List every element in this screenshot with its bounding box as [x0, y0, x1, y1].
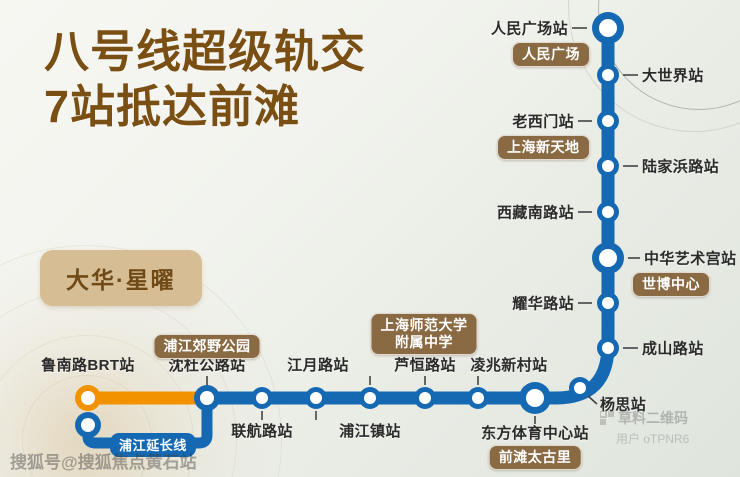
station-dot-pujiangzhen-inner — [310, 392, 322, 404]
watermark-qr-text: 草料二维码 — [618, 408, 688, 428]
station-dot-yangsi-inner — [574, 382, 586, 394]
station-label-laoximen[interactable]: 老西门站 — [512, 111, 574, 132]
station-dot-lianhanglu-inner — [256, 392, 268, 404]
station-label-lianhanglu[interactable]: 联航路站 — [231, 420, 293, 441]
station-label-luhenglu[interactable]: 芦恒路站 — [394, 354, 456, 375]
station-label-yaohualu[interactable]: 耀华路站 — [512, 293, 574, 314]
poi-badge-xintiandi-text: 上海新天地 — [507, 139, 580, 156]
station-dot-chengshanlu-inner — [602, 342, 614, 354]
station-dot-luhenglu-inner — [419, 392, 431, 404]
station-label-pujiangzhen[interactable]: 浦江镇站 — [339, 420, 401, 441]
station-label-lingzhaoxincun[interactable]: 凌兆新村站 — [470, 354, 547, 375]
poi-badge-shibo-zhongxin-text: 世博中心 — [642, 276, 700, 293]
headline-line-2: 7站抵达前滩 — [44, 83, 366, 131]
poi-badge-xintiandi[interactable]: 上海新天地 — [497, 135, 590, 160]
watermark-user-text: 用户 oTPNR6 — [616, 430, 689, 447]
poi-badge-renmin-guangchang-text: 人民广场 — [522, 46, 580, 63]
poi-badge-renmin-guangchang[interactable]: 人民广场 — [512, 42, 590, 67]
station-label-lunanlu-brt[interactable]: 鲁南路BRT站 — [41, 354, 135, 375]
metro-line-poster: 八号线超级轨交 7站抵达前滩 大华·星曜 — [0, 0, 740, 477]
station-dot-yaohualu-inner — [602, 297, 614, 309]
station-label-dongfangtiyuzhongxin[interactable]: 东方体育中心站 — [481, 422, 589, 443]
watermark-qr-block: 草料二维码 — [600, 408, 688, 428]
qr-code-icon — [600, 411, 614, 425]
poi-badge-shishida-line2: 附属中学 — [381, 334, 468, 351]
station-dot-lingzhaoxincun-inner — [472, 392, 484, 404]
poi-badge-pujiang-jiaoye[interactable]: 浦江郊野公园 — [154, 334, 261, 359]
station-dot-pujiang-extension-terminus-inner — [81, 418, 95, 432]
poi-badge-pujiang-jiaoye-text: 浦江郊野公园 — [164, 338, 251, 355]
station-label-chengshanlu[interactable]: 成山路站 — [642, 338, 704, 359]
project-name-label: 大华·星曜 — [66, 267, 176, 293]
station-dot-zhonghuayishugong-inner — [599, 249, 617, 267]
station-dot-shendugonglu-inner — [200, 391, 214, 405]
poi-badge-qiantan-taikooli[interactable]: 前滩太古里 — [489, 445, 582, 470]
station-label-xizangnanlu[interactable]: 西藏南路站 — [497, 202, 574, 223]
headline-line-1: 八号线超级轨交 — [44, 28, 366, 76]
station-dot-jiangyuelu-inner — [364, 392, 376, 404]
station-label-jiangyuelu[interactable]: 江月路站 — [287, 354, 349, 375]
station-dot-lujiabang-inner — [602, 160, 614, 172]
station-label-dashijie[interactable]: 大世界站 — [642, 65, 704, 86]
poi-badge-shishida-fuzhong[interactable]: 上海师范大学 附属中学 — [371, 313, 478, 355]
station-dot-renmin-guangchang-inner — [599, 19, 617, 37]
watermark-sohu: 搜狐号@搜狐焦点黄石站 — [10, 448, 197, 473]
station-label-zhonghuayishugong[interactable]: 中华艺术宫站 — [644, 248, 736, 269]
tick-yangsi — [588, 396, 597, 404]
headline-block: 八号线超级轨交 7站抵达前滩 — [44, 28, 366, 130]
station-dot-laoximen-inner — [602, 115, 614, 127]
poi-badge-shibo-zhongxin[interactable]: 世博中心 — [632, 272, 710, 297]
poi-badge-shishida-line1: 上海师范大学 — [381, 317, 468, 334]
station-dot-lunanlu-brt-inner — [81, 391, 95, 405]
station-dot-xizangnanlu-inner — [602, 206, 614, 218]
poi-badge-qiantan-taikooli-text: 前滩太古里 — [499, 449, 572, 466]
project-name-badge: 大华·星曜 — [40, 250, 202, 306]
station-label-lujiabang[interactable]: 陆家浜路站 — [642, 156, 719, 177]
station-label-renmin-guangchang[interactable]: 人民广场站 — [491, 18, 568, 39]
station-dot-dashijie-inner — [602, 69, 614, 81]
station-dot-dongfangtiyuzhongxin-inner — [526, 389, 544, 407]
